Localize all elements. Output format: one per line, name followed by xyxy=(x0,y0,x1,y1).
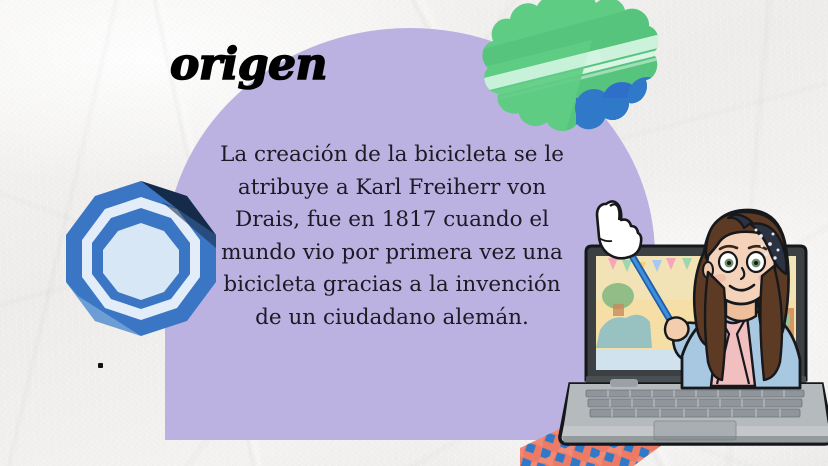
page-title: origen xyxy=(170,43,327,87)
hair-strand-right xyxy=(760,266,782,380)
laptop-keyboard xyxy=(586,390,804,417)
pointing-hand-glove xyxy=(597,201,641,258)
green-scalloped-blob xyxy=(472,0,658,138)
blue-concentric-polygon xyxy=(58,178,224,344)
hair-strand-left xyxy=(705,272,726,380)
black-dot-accent xyxy=(98,363,103,368)
body-paragraph: La creación de la bicicleta se le atribu… xyxy=(212,139,572,334)
slide-canvas: origen La creación de la bicicleta se le… xyxy=(0,0,828,466)
laptop-with-bitmoji-teacher xyxy=(556,200,828,466)
gripping-hand xyxy=(665,317,689,340)
